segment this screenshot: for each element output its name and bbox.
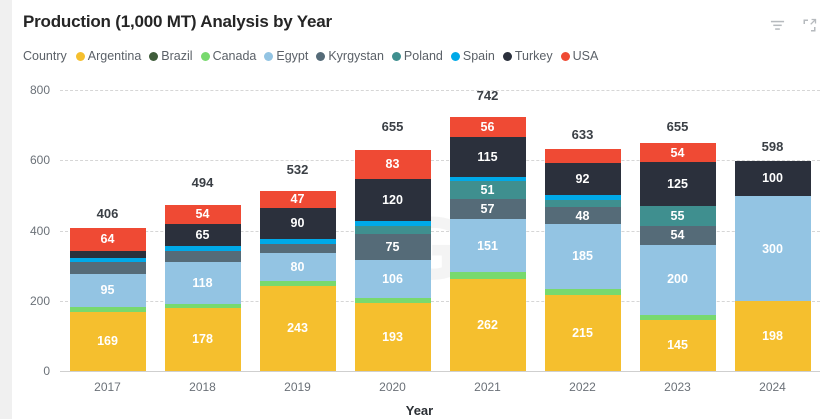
bar-segment-kyrgystan[interactable]: 75: [355, 234, 431, 260]
legend-item-spain[interactable]: Spain: [451, 49, 495, 63]
legend-item-label: USA: [573, 49, 599, 63]
x-axis-tick-label: 2023: [638, 380, 718, 394]
bar-segment-value: 125: [667, 178, 688, 191]
bar-total-label: 598: [723, 139, 823, 154]
bar-segment-spain[interactable]: [260, 239, 336, 243]
x-axis-tick-label: 2018: [163, 380, 243, 394]
legend-item-label: Canada: [213, 49, 257, 63]
bar-segment-value: 80: [291, 261, 305, 274]
bar-segment-poland[interactable]: 51: [450, 181, 526, 199]
bar-segment-canada[interactable]: [165, 304, 241, 309]
bar-segment-argentina[interactable]: 145: [640, 320, 716, 371]
x-axis-tick-label: 2020: [353, 380, 433, 394]
bar-segment-value: 151: [477, 240, 498, 253]
legend-swatch-icon: [201, 52, 210, 61]
legend-item-label: Argentina: [88, 49, 142, 63]
bar-segment-kyrgystan[interactable]: [165, 251, 241, 263]
x-axis-tick-label: 2019: [258, 380, 338, 394]
bar-segment-value: 65: [196, 229, 210, 242]
legend-swatch-icon: [451, 52, 460, 61]
bar-segment-value: 54: [196, 208, 210, 221]
bar-segment-spain[interactable]: [70, 258, 146, 262]
y-axis-tick-label: 600: [12, 153, 50, 167]
bar-segment-argentina[interactable]: 262: [450, 279, 526, 371]
bar-segment-spain[interactable]: [450, 177, 526, 181]
bar-segment-egypt[interactable]: 80: [260, 253, 336, 281]
bar-segment-argentina[interactable]: 178: [165, 308, 241, 371]
bar-total-label: 655: [628, 119, 728, 134]
bar-segment-egypt[interactable]: 95: [70, 274, 146, 307]
bar-segment-value: 48: [576, 210, 590, 223]
bar-segment-usa[interactable]: 56: [450, 117, 526, 137]
bar-segment-value: 95: [101, 284, 115, 297]
bar-segment-turkey[interactable]: 115: [450, 137, 526, 177]
bar-segment-argentina[interactable]: 169: [70, 312, 146, 371]
bar-total-label: 532: [248, 162, 348, 177]
bar-2020[interactable]: 1931067512083: [355, 141, 431, 371]
header-icon-group: [770, 18, 817, 33]
bar-segment-egypt[interactable]: 118: [165, 262, 241, 303]
bar-segment-spain[interactable]: [165, 246, 241, 250]
bar-segment-value: 100: [762, 172, 783, 185]
bar-segment-value: 120: [382, 194, 403, 207]
legend-item-kyrgystan[interactable]: Kyrgystan: [316, 49, 384, 63]
legend-item-label: Brazil: [161, 49, 192, 63]
bar-segment-canada[interactable]: [355, 298, 431, 304]
legend-item-argentina[interactable]: Argentina: [76, 49, 142, 63]
bar-2021[interactable]: 262151575111556: [450, 110, 526, 371]
x-axis-tick-label: 2022: [543, 380, 623, 394]
bar-segment-value: 178: [192, 333, 213, 346]
bar-segment-turkey[interactable]: 65: [165, 224, 241, 247]
bar-segment-poland[interactable]: [355, 226, 431, 234]
bar-segment-value: 51: [481, 184, 495, 197]
legend-item-label: Turkey: [515, 49, 553, 63]
bar-segment-turkey[interactable]: 90: [260, 208, 336, 240]
bar-segment-value: 47: [291, 193, 305, 206]
bar-segment-value: 64: [101, 233, 115, 246]
x-axis-tick-label: 2024: [733, 380, 813, 394]
legend-swatch-icon: [561, 52, 570, 61]
legend-title: Country: [23, 49, 67, 63]
expand-icon[interactable]: [802, 18, 817, 33]
y-axis-tick-label: 800: [12, 83, 50, 97]
bar-segment-value: 106: [382, 273, 403, 286]
bar-2017[interactable]: 1699564: [70, 228, 146, 371]
legend-item-label: Egypt: [276, 49, 308, 63]
bar-segment-value: 145: [667, 339, 688, 352]
bar-total-label: 633: [533, 127, 633, 142]
legend-item-poland[interactable]: Poland: [392, 49, 443, 63]
bar-segment-canada[interactable]: [640, 315, 716, 320]
bar-segment-value: 262: [477, 319, 498, 332]
bar-segment-value: 243: [287, 322, 308, 335]
x-axis-tick-label: 2021: [448, 380, 528, 394]
bar-segment-poland[interactable]: [545, 200, 621, 208]
bar-2018[interactable]: 1781186554: [165, 197, 241, 371]
legend-swatch-icon: [76, 52, 85, 61]
axis-baseline: [60, 371, 820, 372]
legend-item-label: Kyrgystan: [328, 49, 384, 63]
bar-segment-argentina[interactable]: 193: [355, 303, 431, 371]
chart-plot-area: G 0200400600800 169956440617811865544942…: [12, 76, 827, 419]
bar-segment-value: 57: [481, 203, 495, 216]
bar-segment-turkey[interactable]: 100: [735, 161, 811, 196]
bar-segment-value: 300: [762, 243, 783, 256]
bar-2023[interactable]: 145200545512554: [640, 141, 716, 371]
bar-segment-value: 83: [386, 158, 400, 171]
bar-segment-poland[interactable]: 55: [640, 206, 716, 225]
bar-segment-turkey[interactable]: [70, 251, 146, 258]
bar-segment-value: 198: [762, 330, 783, 343]
bar-segment-value: 90: [291, 217, 305, 230]
bar-segment-value: 56: [481, 121, 495, 134]
legend-item-label: Spain: [463, 49, 495, 63]
bar-segment-canada[interactable]: [70, 307, 146, 311]
bar-segment-value: 55: [671, 210, 685, 223]
filter-icon[interactable]: [770, 18, 785, 33]
chart-panel: Production (1,000 MT) Analysis by Year C…: [12, 0, 827, 419]
legend-swatch-icon: [149, 52, 158, 61]
y-axis-tick-label: 200: [12, 294, 50, 308]
legend-item-brazil[interactable]: Brazil: [149, 49, 192, 63]
bar-segment-argentina[interactable]: 215: [545, 295, 621, 371]
legend-item-turkey[interactable]: Turkey: [503, 49, 553, 63]
bar-segment-value: 193: [382, 331, 403, 344]
legend-item-egypt[interactable]: Egypt: [264, 49, 308, 63]
bar-segment-value: 185: [572, 250, 593, 263]
bar-total-label: 406: [58, 206, 158, 221]
bar-segment-value: 118: [192, 277, 212, 290]
bar-segment-kyrgystan[interactable]: 57: [450, 199, 526, 219]
bar-segment-value: 75: [386, 241, 400, 254]
legend-swatch-icon: [264, 52, 273, 61]
bar-segment-turkey[interactable]: 92: [545, 163, 621, 195]
bar-segment-usa[interactable]: 47: [260, 191, 336, 208]
bar-total-label: 655: [343, 119, 443, 134]
legend-item-canada[interactable]: Canada: [201, 49, 257, 63]
legend-swatch-icon: [503, 52, 512, 61]
legend-swatch-icon: [316, 52, 325, 61]
y-axis-tick-label: 0: [12, 364, 50, 378]
legend-items: ArgentinaBrazilCanadaEgyptKyrgystanPolan…: [76, 49, 607, 63]
bar-segment-usa[interactable]: [545, 149, 621, 163]
bar-segment-canada[interactable]: [260, 281, 336, 285]
y-axis-tick-label: 400: [12, 224, 50, 238]
bar-total-label: 742: [438, 88, 538, 103]
x-axis-title: Year: [12, 403, 827, 418]
bar-2019[interactable]: 243809047: [260, 184, 336, 371]
bar-segment-value: 200: [667, 273, 688, 286]
bar-segment-value: 54: [671, 229, 685, 242]
bar-segment-value: 169: [97, 335, 118, 348]
bar-segment-usa[interactable]: 54: [165, 205, 241, 224]
bar-segment-kyrgystan[interactable]: [70, 262, 146, 274]
bar-segment-kyrgystan[interactable]: 48: [545, 207, 621, 224]
bar-segment-value: 115: [477, 151, 497, 164]
x-axis-tick-label: 2017: [68, 380, 148, 394]
bar-segment-value: 215: [572, 327, 593, 340]
bar-segment-canada[interactable]: [450, 272, 526, 279]
bar-segment-argentina[interactable]: 243: [260, 286, 336, 371]
bar-segment-argentina[interactable]: 198: [735, 301, 811, 371]
bar-segment-canada[interactable]: [545, 289, 621, 295]
bar-segment-turkey[interactable]: 120: [355, 179, 431, 221]
bar-segment-usa[interactable]: 83: [355, 150, 431, 179]
bar-total-label: 494: [153, 175, 253, 190]
bar-segment-usa[interactable]: 54: [640, 143, 716, 162]
bar-segment-egypt[interactable]: 185: [545, 224, 621, 289]
bar-segment-turkey[interactable]: 125: [640, 162, 716, 206]
legend-swatch-icon: [392, 52, 401, 61]
bar-segment-kyrgystan[interactable]: 54: [640, 226, 716, 245]
bar-2024[interactable]: 198300100: [735, 161, 811, 371]
bar-segment-value: 54: [671, 147, 685, 160]
bar-segment-spain[interactable]: [545, 195, 621, 199]
bar-segment-spain[interactable]: [355, 221, 431, 226]
bar-segment-egypt[interactable]: 200: [640, 245, 716, 315]
bar-2022[interactable]: 2151854892: [545, 149, 621, 371]
bar-segment-egypt[interactable]: 106: [355, 260, 431, 297]
bar-segment-usa[interactable]: 64: [70, 228, 146, 250]
bar-segment-egypt[interactable]: 300: [735, 196, 811, 301]
legend-item-usa[interactable]: USA: [561, 49, 599, 63]
legend-item-label: Poland: [404, 49, 443, 63]
bar-segment-egypt[interactable]: 151: [450, 219, 526, 272]
bar-segment-value: 92: [576, 173, 590, 186]
page-title: Production (1,000 MT) Analysis by Year: [23, 12, 332, 32]
legend: Country ArgentinaBrazilCanadaEgyptKyrgys…: [23, 48, 606, 64]
bar-segment-kyrgystan[interactable]: [260, 244, 336, 254]
